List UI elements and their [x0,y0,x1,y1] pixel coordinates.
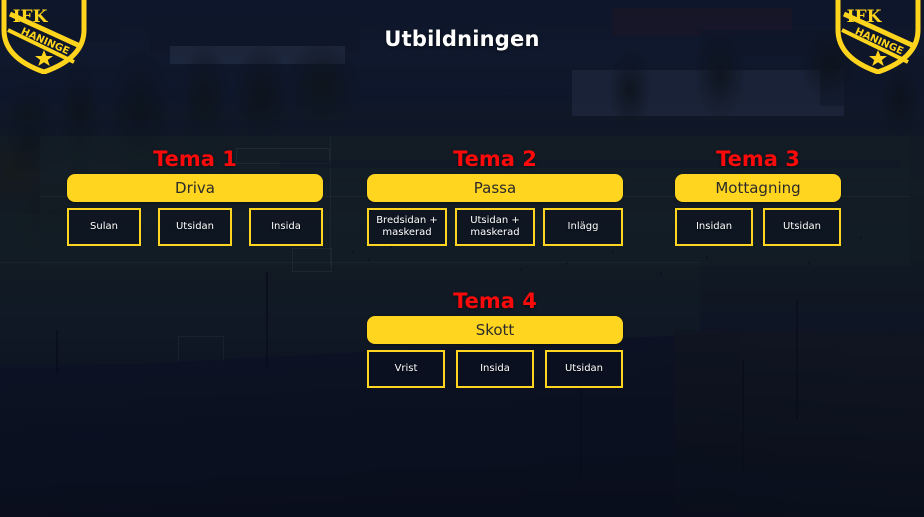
theme-title-box-passa[interactable]: Passa [367,174,623,202]
theme-title-box-driva[interactable]: Driva [67,174,323,202]
theme-label-tema-2: Tema 2 [367,148,623,170]
theme-items-row-tema-3: Insidan Utsidan [675,208,841,246]
theme-item-box[interactable]: Sulan [67,208,141,246]
theme-label-tema-4: Tema 4 [367,290,623,312]
background-aerial-photo [0,0,924,517]
crest-text-ifk: IFK [13,7,49,27]
theme-group-tema-1: Tema 1 Driva Sulan Utsidan Insida [67,148,323,246]
theme-item-box[interactable]: Bredsidan + maskerad [367,208,447,246]
theme-title-box-skott[interactable]: Skott [367,316,623,344]
theme-items-row-tema-1: Sulan Utsidan Insida [67,208,323,246]
theme-group-tema-3: Tema 3 Mottagning Insidan Utsidan [675,148,841,246]
theme-group-tema-4: Tema 4 Skott Vrist Insida Utsidan [367,290,623,388]
presentation-slide: IFK HANINGE IFK HANINGE Utbildningen Tem… [0,0,924,517]
theme-item-box[interactable]: Utsidan [545,350,623,388]
theme-item-box[interactable]: Insida [456,350,534,388]
theme-items-row-tema-4: Vrist Insida Utsidan [367,350,623,388]
theme-item-box[interactable]: Utsidan [158,208,232,246]
theme-item-box[interactable]: Insidan [675,208,753,246]
theme-title-box-mottagning[interactable]: Mottagning [675,174,841,202]
theme-item-box[interactable]: Inlägg [543,208,623,246]
theme-label-tema-3: Tema 3 [675,148,841,170]
theme-label-tema-1: Tema 1 [67,148,323,170]
theme-item-box[interactable]: Insida [249,208,323,246]
theme-items-row-tema-2: Bredsidan + maskerad Utsidan + maskerad … [367,208,623,246]
theme-group-tema-2: Tema 2 Passa Bredsidan + maskerad Utsida… [367,148,623,246]
photo-blue-wash [0,0,924,517]
theme-item-box[interactable]: Utsidan + maskerad [455,208,535,246]
slide-title: Utbildningen [0,27,924,51]
theme-item-box[interactable]: Vrist [367,350,445,388]
crest-text-ifk: IFK [847,7,883,27]
theme-item-box[interactable]: Utsidan [763,208,841,246]
